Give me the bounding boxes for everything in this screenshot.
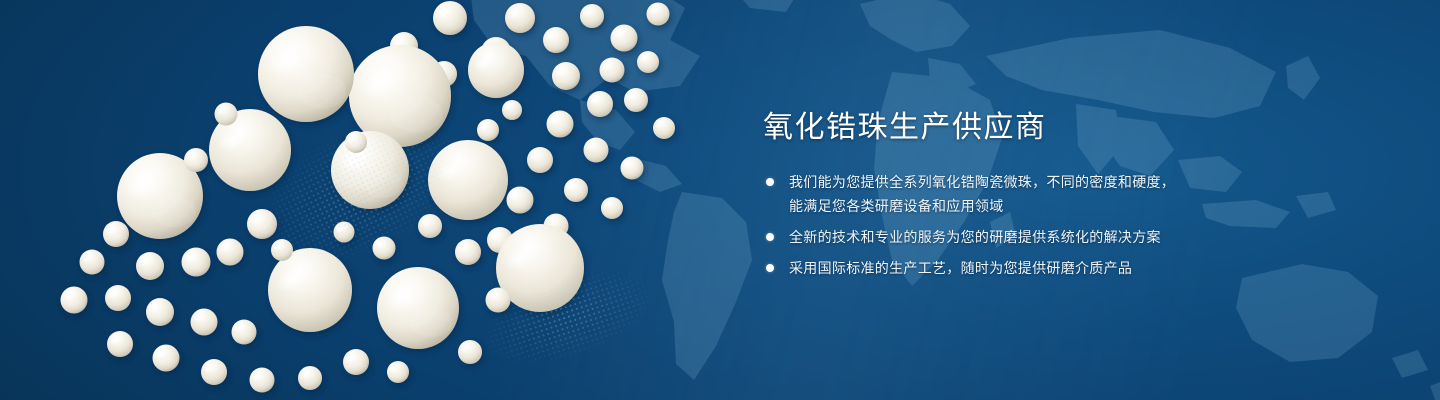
bullet-line: 我们能为您提供全系列氧化锆陶瓷微珠，不同的密度和硬度， [789,170,1363,194]
banner-headline: 氧化锆珠生产供应商 [763,108,1363,148]
list-item: 采用国际标准的生产工艺，随时为您提供研磨介质产品 [763,256,1363,280]
bullet-line: 采用国际标准的生产工艺，随时为您提供研磨介质产品 [789,256,1363,280]
hero-banner: 氧化锆珠生产供应商 我们能为您提供全系列氧化锆陶瓷微珠，不同的密度和硬度， 能满… [0,0,1440,400]
bullet-dot-icon [766,233,774,241]
banner-copy: 氧化锆珠生产供应商 我们能为您提供全系列氧化锆陶瓷微珠，不同的密度和硬度， 能满… [763,108,1363,280]
bullet-dot-icon [766,178,774,186]
bullet-dot-icon [766,264,774,272]
bullet-line: 能满足您各类研磨设备和应用领域 [789,194,1363,218]
list-item: 全新的技术和专业的服务为您的研磨提供系统化的解决方案 [763,225,1363,249]
bullet-line: 全新的技术和专业的服务为您的研磨提供系统化的解决方案 [789,225,1363,249]
banner-feature-list: 我们能为您提供全系列氧化锆陶瓷微珠，不同的密度和硬度， 能满足您各类研磨设备和应… [763,170,1363,280]
list-item: 我们能为您提供全系列氧化锆陶瓷微珠，不同的密度和硬度， 能满足您各类研磨设备和应… [763,170,1363,218]
